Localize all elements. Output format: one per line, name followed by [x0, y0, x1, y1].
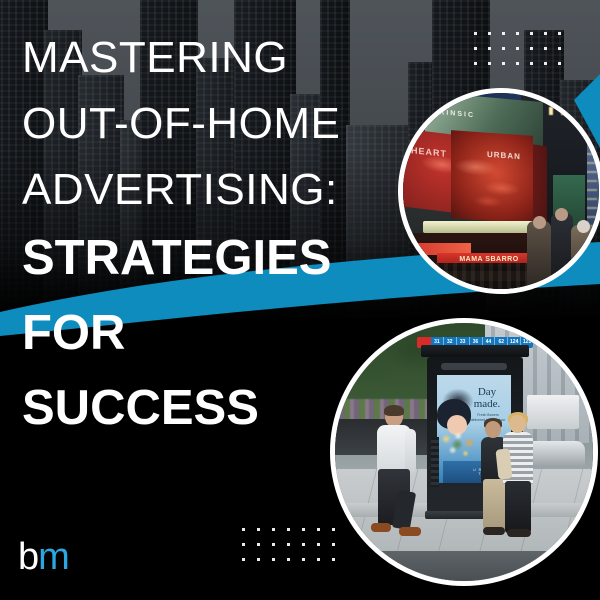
- headline-line-3: ADVERTISING:: [22, 168, 442, 212]
- headline-line-4: STRATEGIES: [22, 234, 442, 283]
- ad-headline-line-1: Day: [468, 387, 506, 399]
- logo-letter-m: m: [38, 536, 69, 578]
- pedestrians-group: [525, 199, 599, 289]
- headline-line-1: MASTERING: [22, 36, 442, 80]
- circle-photo-bus-shelter: 31 32 33 36 44 62 124 125 Day: [330, 318, 598, 586]
- pedestrian-man-walking: [369, 407, 423, 537]
- dot-grid-bottom: [242, 528, 347, 573]
- poster-canvas: MASTERING OUT-OF-HOME ADVERTISING: STRAT…: [0, 0, 600, 600]
- billboard-brand-label: TRINSIC: [433, 109, 475, 120]
- circle-photo-times-square: TRINSIC HEART URBAN MAMA SBARRO: [398, 88, 600, 294]
- ad-headline: Day made.: [468, 387, 506, 410]
- dot-grid-top-right: [474, 32, 572, 77]
- brand-logo[interactable]: bm: [18, 538, 69, 576]
- headline-line-2: OUT-OF-HOME: [22, 102, 442, 146]
- logo-letter-b: b: [18, 536, 38, 578]
- pedestrians-viewing-ad: [483, 415, 553, 537]
- ad-headline-line-2: made.: [468, 399, 506, 411]
